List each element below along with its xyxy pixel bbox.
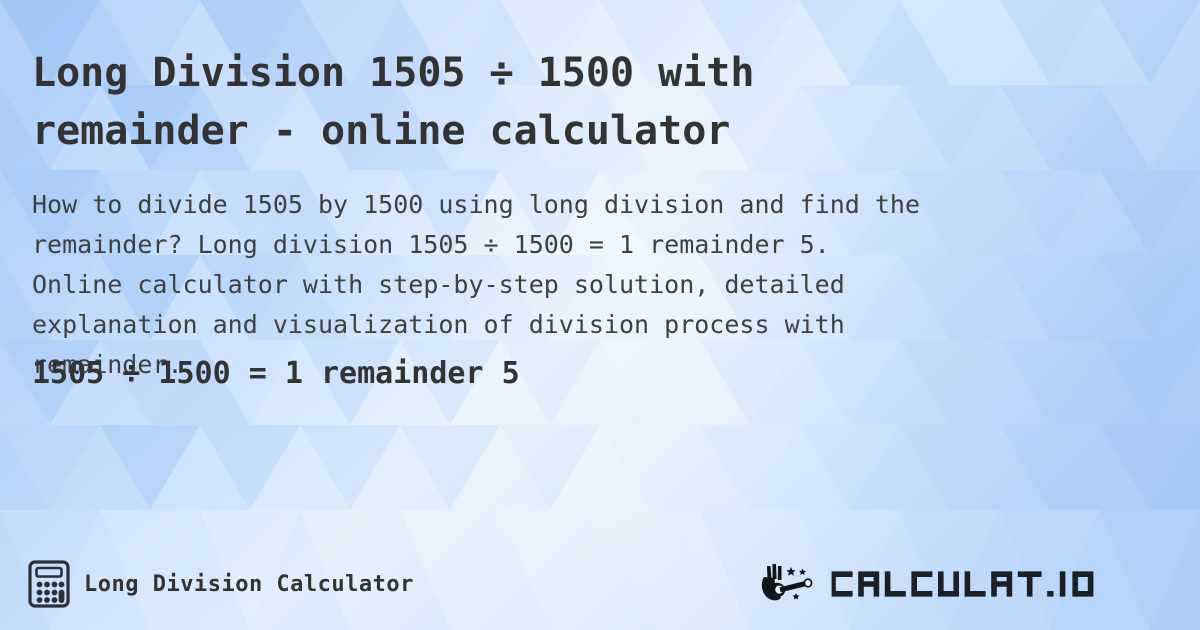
magic-wand-hand-icon — [758, 562, 820, 606]
footer-brand-left[interactable]: Long Division Calculator — [28, 560, 414, 608]
result-equation: 1505 ÷ 1500 = 1 remainder 5 — [32, 355, 520, 393]
footer-label: Long Division Calculator — [84, 572, 414, 597]
footer-brand-right[interactable] — [758, 562, 1176, 606]
calculator-icon — [28, 560, 70, 608]
brand-wordmark — [826, 563, 1176, 605]
footer: Long Division Calculator — [0, 530, 1200, 630]
page-title: Long Division 1505 ÷ 1500 with remainder… — [32, 44, 1032, 160]
og-card: Long Division 1505 ÷ 1500 with remainder… — [0, 0, 1200, 630]
